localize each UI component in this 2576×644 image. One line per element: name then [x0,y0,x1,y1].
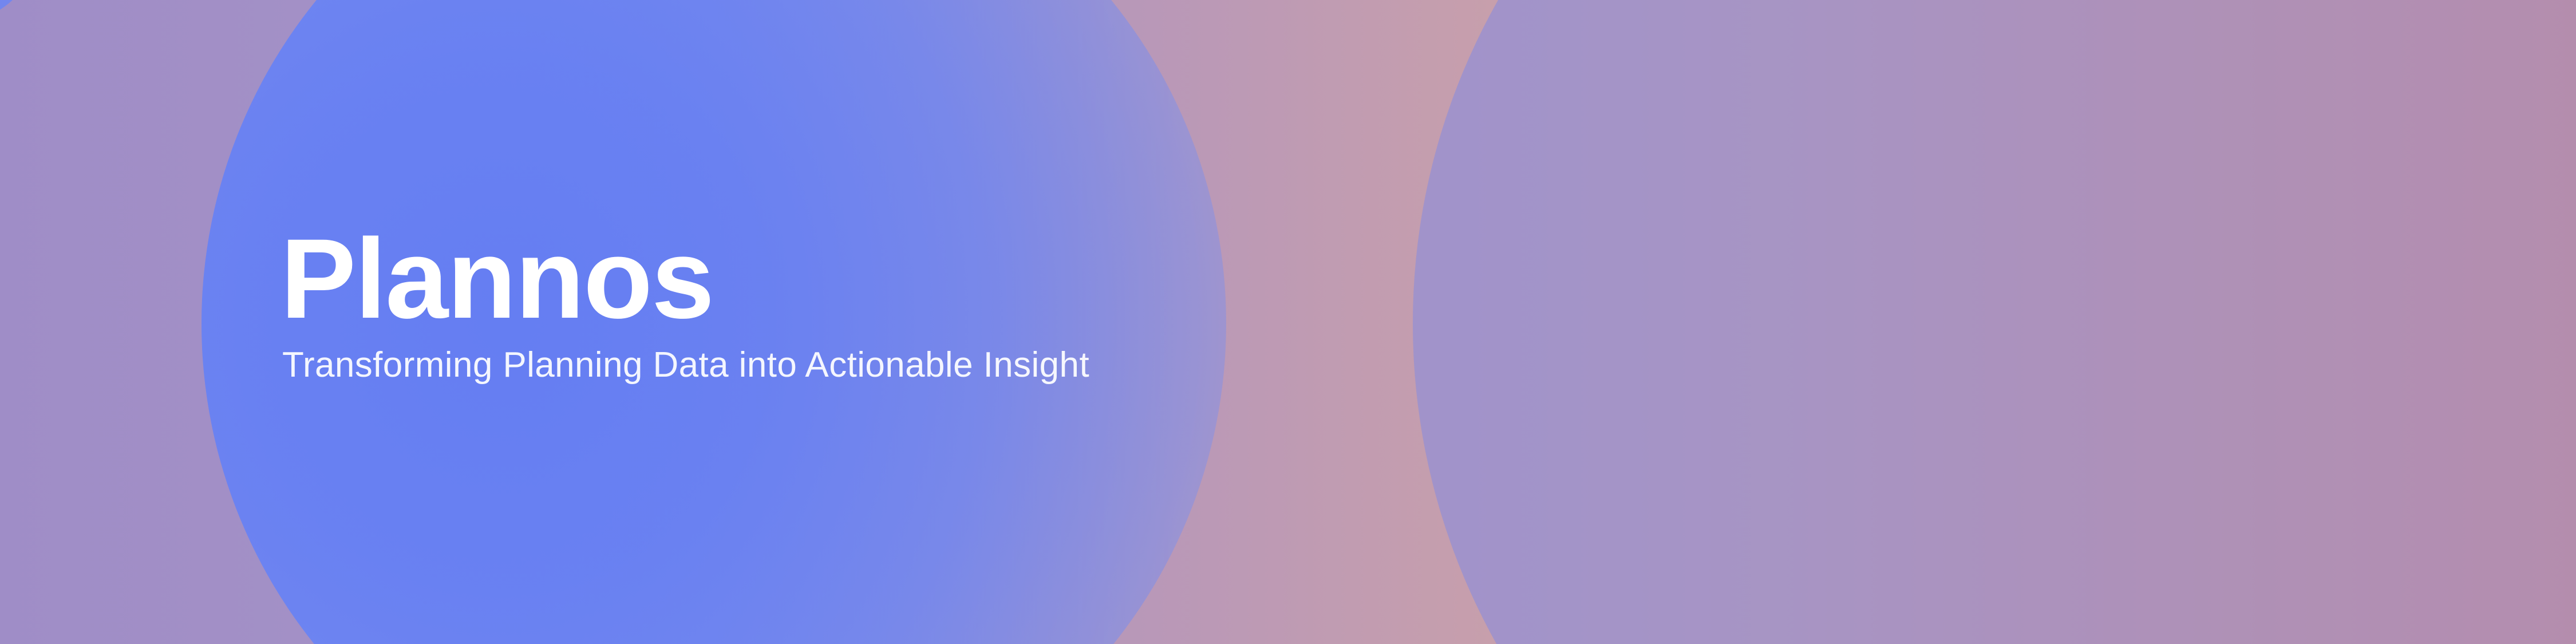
brand-title: Plannos [280,222,1089,335]
plannos-hero-banner: Plannos Transforming Planning Data into … [0,0,2576,644]
brand-tagline: Transforming Planning Data into Actionab… [282,346,1089,385]
hero-copy-block: Plannos Transforming Planning Data into … [280,222,1089,385]
